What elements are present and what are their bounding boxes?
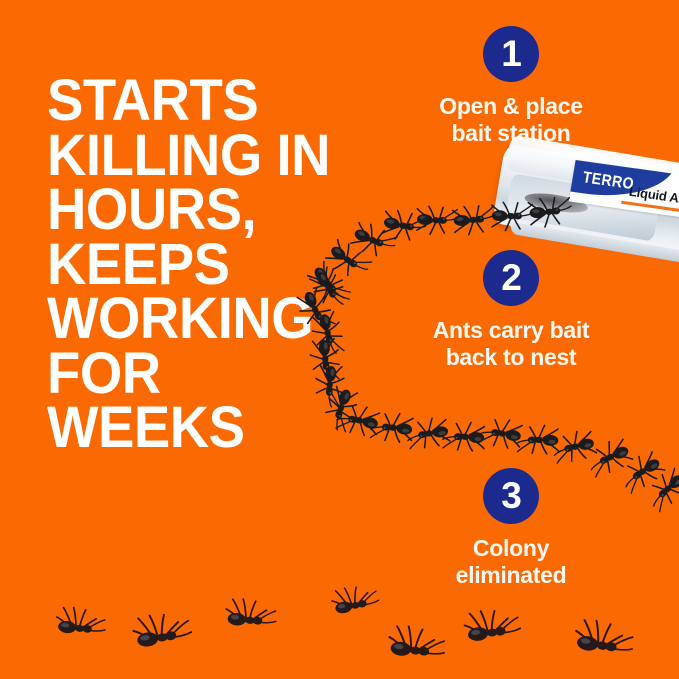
step-3-badge: 3 [483, 468, 539, 524]
step-2-label: Ants carry bait back to nest [388, 317, 634, 370]
step-3: 3 Colony eliminated [388, 468, 634, 588]
step-2: 2 Ants carry bait back to nest [388, 250, 634, 370]
step-1-badge: 1 [483, 26, 539, 82]
page-title: STARTS KILLING IN HOURS, KEEPS WORKING F… [47, 74, 348, 456]
step-3-label: Colony eliminated [388, 535, 634, 588]
step-2-badge: 2 [483, 250, 539, 306]
dead-ant-row [55, 583, 635, 661]
terro-ant-bait-poster: STARTS KILLING IN HOURS, KEEPS WORKING F… [0, 0, 679, 679]
